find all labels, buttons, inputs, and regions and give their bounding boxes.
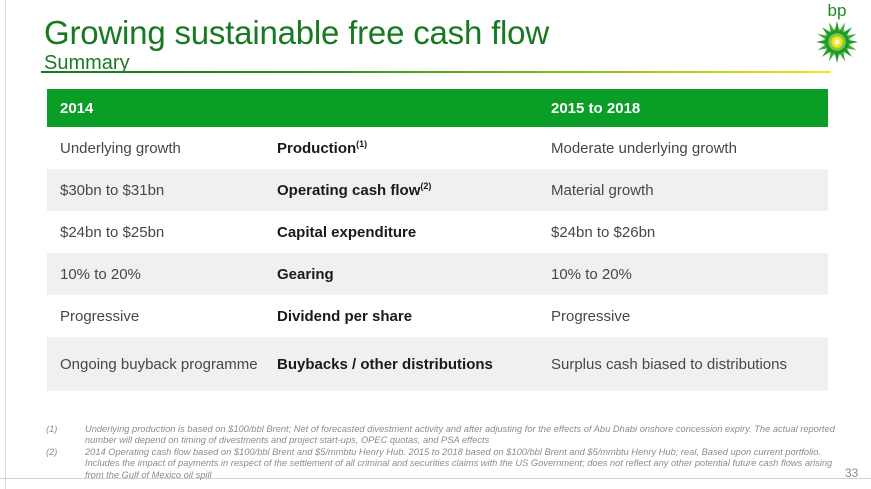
cell-2015-2018: Moderate underlying growth (551, 139, 828, 158)
cell-2014: Progressive (47, 307, 277, 326)
metric-label: Operating cash flow (277, 182, 420, 199)
footnote-item: (1) Underlying production is based on $1… (46, 424, 846, 447)
metric-label: Dividend per share (277, 308, 412, 325)
table-header-row: 2014 2015 to 2018 (47, 89, 828, 127)
table-row: 10% to 20% Gearing 10% to 20% (47, 253, 828, 295)
footnote-marker: (2) (46, 447, 85, 481)
column-header-2014: 2014 (47, 100, 277, 117)
metric-label: Buybacks / other distributions (277, 356, 493, 373)
cell-2014: $30bn to $31bn (47, 181, 277, 200)
cell-2015-2018: Surplus cash biased to distributions (551, 355, 828, 374)
cell-metric: Capital expenditure (277, 223, 551, 242)
table-row: Ongoing buyback programme Buybacks / oth… (47, 337, 828, 391)
footnotes: (1) Underlying production is based on $1… (46, 424, 846, 481)
metric-label: Production (277, 140, 356, 157)
bp-helios-icon (815, 20, 859, 64)
cell-2015-2018: Material growth (551, 181, 828, 200)
metric-label: Gearing (277, 266, 334, 283)
summary-table: 2014 2015 to 2018 Underlying growth Prod… (47, 89, 828, 391)
cell-metric: Dividend per share (277, 307, 551, 326)
cell-2014: 10% to 20% (47, 265, 277, 284)
footnote-ref: (1) (356, 139, 367, 149)
cell-2014: Underlying growth (47, 139, 277, 158)
table-row: $30bn to $31bn Operating cash flow(2) Ma… (47, 169, 828, 211)
page-number: 33 (845, 466, 858, 480)
slide-left-border (5, 0, 6, 489)
table-row: Underlying growth Production(1) Moderate… (47, 127, 828, 169)
footnote-text: 2014 Operating cash flow based on $100/b… (85, 447, 846, 481)
cell-metric: Buybacks / other distributions (277, 355, 551, 374)
cell-2014: Ongoing buyback programme (47, 355, 277, 374)
footnote-text: Underlying production is based on $100/b… (85, 424, 846, 447)
metric-label: Capital expenditure (277, 224, 416, 241)
table-row: Progressive Dividend per share Progressi… (47, 295, 828, 337)
footnote-marker: (1) (46, 424, 85, 447)
bp-wordmark: bp (806, 2, 868, 19)
cell-metric: Gearing (277, 265, 551, 284)
slide: Growing sustainable free cash flow Summa… (0, 0, 871, 489)
page-title: Growing sustainable free cash flow (44, 14, 549, 52)
footnote-ref: (2) (420, 181, 431, 191)
cell-2015-2018: Progressive (551, 307, 828, 326)
cell-2015-2018: $24bn to $26bn (551, 223, 828, 242)
table-row: $24bn to $25bn Capital expenditure $24bn… (47, 211, 828, 253)
bp-logo: bp (806, 2, 868, 68)
cell-metric: Operating cash flow(2) (277, 181, 551, 200)
cell-metric: Production(1) (277, 139, 551, 158)
cell-2015-2018: 10% to 20% (551, 265, 828, 284)
column-header-2015-2018: 2015 to 2018 (551, 100, 828, 117)
footnote-item: (2) 2014 Operating cash flow based on $1… (46, 447, 846, 481)
cell-2014: $24bn to $25bn (47, 223, 277, 242)
header-divider (41, 71, 831, 73)
